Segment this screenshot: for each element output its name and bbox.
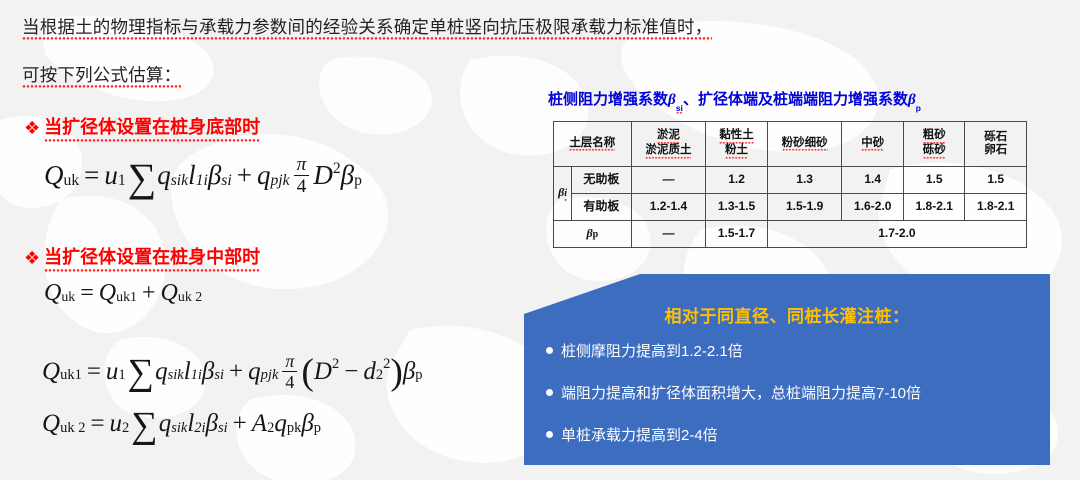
heading-middle-case: ❖ 当扩径体设置在桩身中部时 bbox=[24, 243, 260, 272]
beta-si-subscript: si bbox=[676, 103, 683, 115]
intro-line-1: 当根据土的物理指标与承载力参数间的经验关系确定单桩竖向抗压极限承载力标准值时， bbox=[22, 14, 712, 39]
table-title-part-1: 桩侧阻力增强系数 bbox=[548, 91, 668, 108]
cell-value: 1.3-1.5 bbox=[706, 194, 768, 221]
callout-title: 相对于同直径、同桩长灌注桩： bbox=[524, 302, 1050, 327]
cell-value: 1.2-1.4 bbox=[631, 194, 706, 221]
callout-item: 端阻力提高和扩径体面积增大，总桩端阻力提高7-10倍 bbox=[546, 382, 1040, 403]
heading-bottom-case: ❖ 当扩径体设置在桩身底部时 bbox=[24, 113, 260, 142]
header-soil-type-3: 中砂 bbox=[842, 122, 904, 167]
row-group-beta-i: βi bbox=[554, 167, 572, 221]
table-row: βi 无助板 — 1.2 1.3 1.4 1.5 1.5 bbox=[554, 167, 1027, 194]
cell-value: 1.2 bbox=[706, 167, 768, 194]
row-group-beta-p: βp bbox=[554, 221, 632, 248]
beta-symbol: β bbox=[908, 92, 916, 108]
formula-quk-sum: Quk = Quk1 + Quk 2 bbox=[44, 280, 202, 307]
callout-item: 桩侧摩阻力提高到1.2-2.1倍 bbox=[546, 340, 1040, 361]
row-label-with-rib: 有助板 bbox=[572, 194, 631, 221]
cell-value-merged: 1.7-2.0 bbox=[767, 221, 1026, 248]
table-row-beta-p: βp — 1.5-1.7 1.7-2.0 bbox=[554, 221, 1027, 248]
table-body: βi 无助板 — 1.2 1.3 1.4 1.5 1.5 有助板 1.2-1.4… bbox=[554, 167, 1027, 248]
intro-line-1-text: 当根据土的物理指标与承载力参数间的经验关系确定单桩竖向抗压极限承载力标准值时， bbox=[22, 17, 712, 40]
cell-value: 1.8-2.1 bbox=[965, 194, 1027, 221]
callout-item-text: 单桩承载力提高到2-4倍 bbox=[561, 424, 718, 445]
diamond-bullet-icon: ❖ bbox=[24, 119, 40, 137]
heading-middle-case-label: 当扩径体设置在桩身中部时 bbox=[44, 243, 260, 272]
header-soil-type-1: 黏性土 粉土 bbox=[706, 122, 768, 167]
header-soil-type-0: 淤泥 淤泥质土 bbox=[631, 122, 706, 167]
header-soil-type-4: 粗砂 砾砂 bbox=[903, 122, 965, 167]
cell-value: 1.8-2.1 bbox=[903, 194, 965, 221]
intro-line-2-text: 可按下列公式估算： bbox=[22, 65, 181, 88]
bullet-dot-icon bbox=[546, 389, 553, 396]
callout-item-text: 桩侧摩阻力提高到1.2-2.1倍 bbox=[561, 340, 743, 361]
beta-p-subscript: p bbox=[916, 103, 921, 113]
intro-line-2: 可按下列公式估算： bbox=[22, 62, 181, 87]
cell-value: 1.5 bbox=[903, 167, 965, 194]
beta-symbol: β bbox=[668, 92, 676, 108]
formula-quk2: Quk 2 = u2 ∑ qsik l2i βsi + A2 qpk βp bbox=[42, 410, 321, 438]
header-soil-type-2: 粉砂细砂 bbox=[767, 122, 842, 167]
cell-value: 1.5 bbox=[965, 167, 1027, 194]
bullet-dot-icon bbox=[546, 347, 553, 354]
cell-value: 1.5-1.7 bbox=[706, 221, 768, 248]
cell-value: 1.6-2.0 bbox=[842, 194, 904, 221]
formula-quk-bottom: Quk = u1 ∑ qsik l1i βsi + qpjk π4 D2 βp bbox=[44, 155, 362, 197]
cell-value: 1.5-1.9 bbox=[767, 194, 842, 221]
comparison-callout-box: 相对于同直径、同桩长灌注桩： 桩侧摩阻力提高到1.2-2.1倍 端阻力提高和扩径… bbox=[524, 274, 1050, 465]
row-label-no-rib: 无助板 bbox=[572, 167, 631, 194]
cell-value: 1.4 bbox=[842, 167, 904, 194]
table-title-part-2: 、扩径体端及桩端端阻力增强系数 bbox=[683, 91, 908, 108]
callout-item-text: 端阻力提高和扩径体面积增大，总桩端阻力提高7-10倍 bbox=[561, 382, 921, 403]
table-row: 有助板 1.2-1.4 1.3-1.5 1.5-1.9 1.6-2.0 1.8-… bbox=[554, 194, 1027, 221]
table-header: 土层名称 淤泥 淤泥质土 黏性土 粉土 粉砂细砂 中砂 粗砂 bbox=[554, 122, 1027, 167]
table-header-row: 土层名称 淤泥 淤泥质土 黏性土 粉土 粉砂细砂 中砂 粗砂 bbox=[554, 122, 1027, 167]
formula-quk1: Quk1 = u1 ∑ qsik l1i βsi + qpjk π4 ( D2 … bbox=[42, 352, 423, 391]
header-soil-layer-name: 土层名称 bbox=[554, 122, 632, 167]
diamond-bullet-icon: ❖ bbox=[24, 249, 40, 267]
callout-item: 单桩承载力提高到2-4倍 bbox=[546, 424, 1040, 445]
header-soil-type-5: 砾石 卵石 bbox=[965, 122, 1027, 167]
slide-content: 当根据土的物理指标与承载力参数间的经验关系确定单桩竖向抗压极限承载力标准值时， … bbox=[0, 0, 1080, 480]
cell-value: — bbox=[631, 221, 706, 248]
cell-value: 1.3 bbox=[767, 167, 842, 194]
cell-value: — bbox=[631, 167, 706, 194]
beta-coefficient-table: 土层名称 淤泥 淤泥质土 黏性土 粉土 粉砂细砂 中砂 粗砂 bbox=[553, 121, 1027, 248]
table-title: 桩侧阻力增强系数βsi、扩径体端及桩端端阻力增强系数βp bbox=[548, 88, 921, 112]
bullet-dot-icon bbox=[546, 431, 553, 438]
heading-bottom-case-label: 当扩径体设置在桩身底部时 bbox=[44, 113, 260, 142]
